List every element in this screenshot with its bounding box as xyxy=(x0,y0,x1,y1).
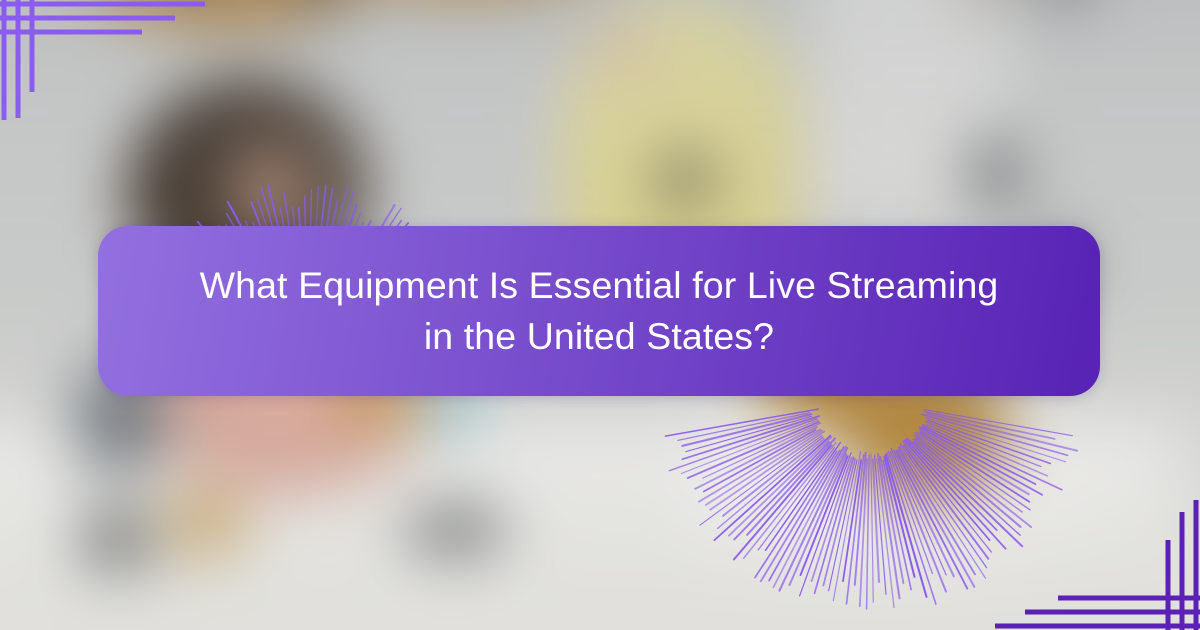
corner-decoration-bottom-right xyxy=(980,500,1200,630)
title-banner: What Equipment Is Essential for Live Str… xyxy=(98,226,1100,396)
social-share-card: What Equipment Is Essential for Live Str… xyxy=(0,0,1200,630)
page-title: What Equipment Is Essential for Live Str… xyxy=(159,260,1039,362)
corner-decoration-top-left xyxy=(0,0,220,120)
